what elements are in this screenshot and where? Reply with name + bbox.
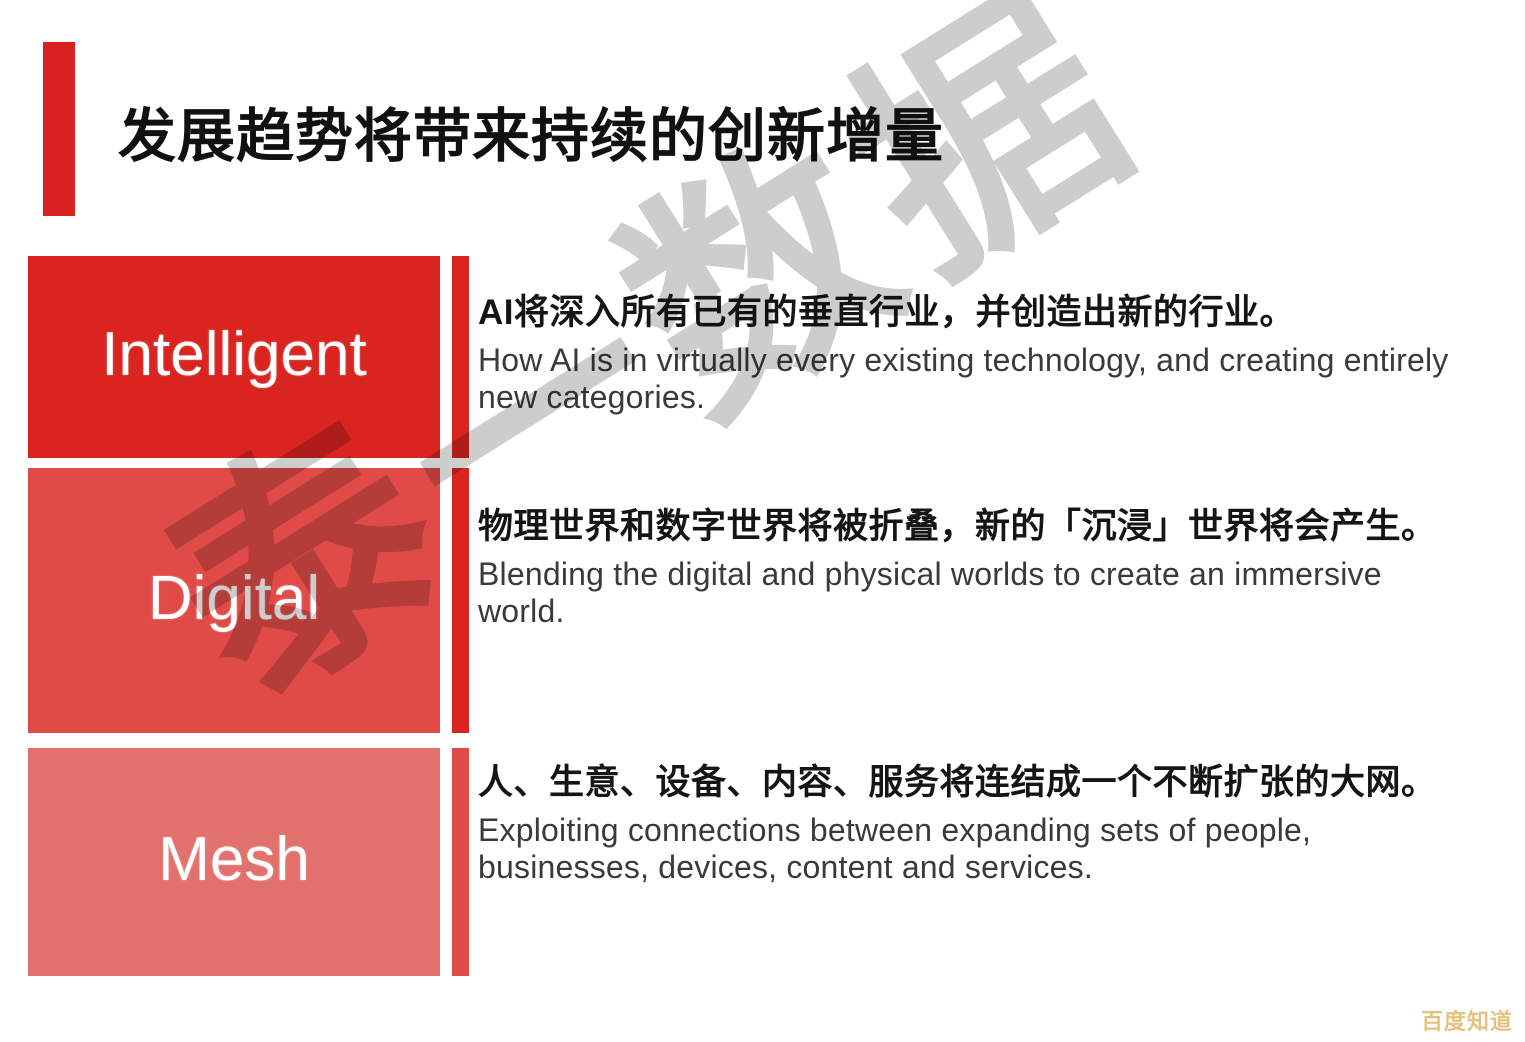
trend-en-text-digital: Blending the digital and physical worlds… — [478, 556, 1468, 631]
trend-label-text-intelligent: Intelligent — [101, 324, 366, 386]
trend-en-text-intelligent: How AI is in virtually every existing te… — [478, 342, 1468, 417]
trend-accent-strip-intelligent — [452, 256, 469, 458]
trend-accent-strip-digital — [452, 468, 469, 733]
slide-canvas: 发展趋势将带来持续的创新增量 Intelligent AI将深入所有已有的垂直行… — [0, 0, 1525, 1042]
trend-row-digital: Digital 物理世界和数字世界将被折叠，新的「沉浸」世界将会产生。 Blen… — [0, 468, 1525, 733]
trend-label-box-mesh: Mesh — [28, 748, 440, 976]
trend-label-text-mesh: Mesh — [158, 829, 310, 891]
title-accent-bar — [43, 42, 75, 216]
source-badge: 百度知道 — [1421, 1004, 1513, 1036]
trend-body-mesh: 人、生意、设备、内容、服务将连结成一个不断扩张的大网。 Exploiting c… — [478, 760, 1468, 886]
trend-body-digital: 物理世界和数字世界将被折叠，新的「沉浸」世界将会产生。 Blending the… — [478, 504, 1468, 630]
trend-label-box-digital: Digital — [28, 468, 440, 733]
trend-accent-strip-mesh — [452, 748, 469, 976]
trend-en-text-mesh: Exploiting connections between expanding… — [478, 812, 1468, 887]
trend-row-intelligent: Intelligent AI将深入所有已有的垂直行业，并创造出新的行业。 How… — [0, 256, 1525, 458]
trend-label-box-intelligent: Intelligent — [28, 256, 440, 458]
trend-cn-text-intelligent: AI将深入所有已有的垂直行业，并创造出新的行业。 — [478, 290, 1468, 336]
page-title: 发展趋势将带来持续的创新增量 — [118, 108, 944, 166]
trend-cn-text-digital: 物理世界和数字世界将被折叠，新的「沉浸」世界将会产生。 — [478, 504, 1468, 550]
trend-label-text-digital: Digital — [148, 568, 320, 630]
trend-cn-text-mesh: 人、生意、设备、内容、服务将连结成一个不断扩张的大网。 — [478, 760, 1468, 806]
trend-row-mesh: Mesh 人、生意、设备、内容、服务将连结成一个不断扩张的大网。 Exploit… — [0, 748, 1525, 976]
trend-body-intelligent: AI将深入所有已有的垂直行业，并创造出新的行业。 How AI is in vi… — [478, 290, 1468, 416]
